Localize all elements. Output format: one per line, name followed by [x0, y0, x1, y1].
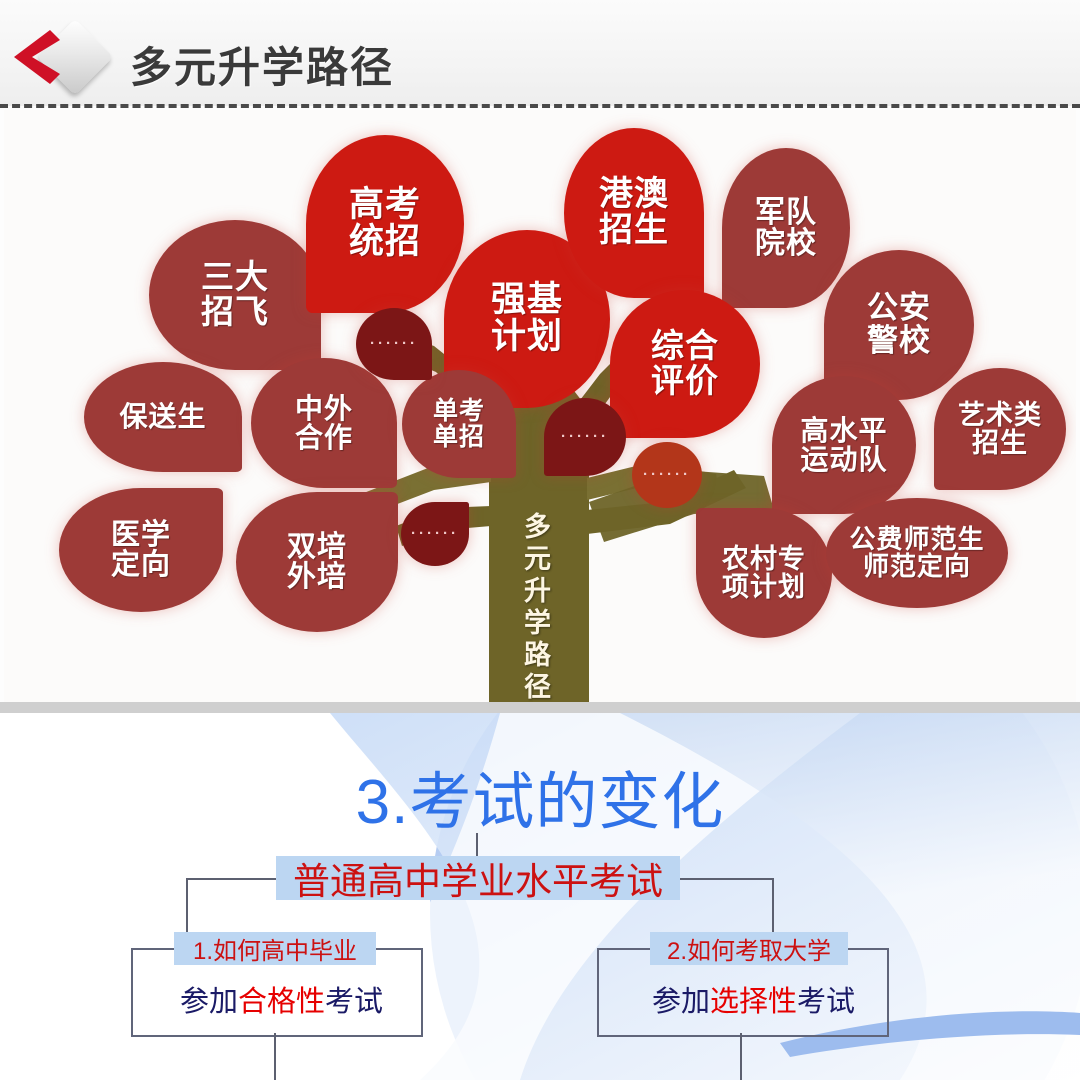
chevron-left-icon	[10, 28, 66, 86]
leaf-label: 农村专 项计划	[722, 545, 806, 602]
branch-2-text-highlight: 选择性	[710, 986, 797, 1018]
connector-node2-bottom	[740, 1033, 742, 1080]
leaf-yixue-dingxiang[interactable]: 医学 定向	[59, 488, 223, 612]
leaf-label: 公费师范生 师范定向	[849, 526, 984, 581]
leaf-label: 高水平 运动队	[800, 416, 887, 475]
leaf-gongfei-shifansheng[interactable]: 公费师范生 师范定向	[826, 498, 1008, 608]
branch-1-text-suffix: 考试	[325, 986, 383, 1018]
leaf-label: 单考 单招	[433, 398, 485, 451]
leaf-zhongwai-hezuo[interactable]: 中外 合作	[251, 358, 397, 488]
leaf-label: 保送生	[119, 402, 206, 431]
leaf-sanda-zhaofei[interactable]: 三大 招飞	[149, 220, 321, 370]
leaf-shuangpei-waipei[interactable]: 双培 外培	[236, 492, 398, 632]
ellipsis-label: ······	[643, 467, 691, 483]
leaf-gaoshuiping-yundongdui[interactable]: 高水平 运动队	[772, 376, 916, 514]
leaf-label: 军队 院校	[755, 197, 817, 260]
ellipsis-label: ······	[370, 336, 418, 352]
leaf-label: 艺术类 招生	[958, 401, 1042, 458]
branch-2-title[interactable]: 2.如何考取大学	[650, 932, 848, 965]
branch-1-text-prefix: 参加	[180, 986, 238, 1018]
leaf-ellipsis-2[interactable]: ······	[544, 398, 626, 476]
leaf-label: 公安 警校	[867, 292, 931, 357]
leaf-label: 医学 定向	[111, 520, 171, 581]
leaf-label: 港澳 招生	[599, 177, 669, 248]
brand-logo	[10, 22, 114, 94]
leaf-label: 综合 评价	[651, 329, 719, 398]
section-title: 3.考试的变化	[0, 751, 1080, 841]
leaf-danka-danzhao[interactable]: 单考 单招	[402, 370, 516, 478]
leaf-ellipsis-1[interactable]: ······	[356, 308, 432, 380]
leaf-ellipsis-3[interactable]: ······	[632, 442, 702, 508]
leaf-label: 高考 统招	[349, 187, 421, 261]
ellipsis-label: ······	[411, 526, 459, 542]
leaf-baosongsheng[interactable]: 保送生	[84, 362, 242, 472]
root-node-label[interactable]: 普通高中学业水平考试	[276, 856, 680, 900]
branch-1-title[interactable]: 1.如何高中毕业	[174, 932, 376, 965]
slide-exam-changes: 3.考试的变化 普通高中学业水平考试 1.如何高中毕业 2.如何考取大学 参加合…	[0, 713, 1080, 1080]
leaf-gangao-zhaosheng[interactable]: 港澳 招生	[564, 128, 704, 298]
branch-2-text-suffix: 考试	[797, 986, 855, 1018]
connector-node1-bottom	[274, 1033, 276, 1080]
branch-2-text: 参加选择性考试	[652, 978, 855, 1020]
ellipsis-label: ······	[561, 429, 609, 445]
branch-2-text-prefix: 参加	[652, 986, 710, 1018]
branch-1-text-highlight: 合格性	[238, 986, 325, 1018]
leaf-label: 三大 招飞	[201, 260, 269, 329]
leaf-label: 强基 计划	[491, 282, 563, 356]
leaf-zonghe-pingjia[interactable]: 综合 评价	[610, 290, 760, 438]
leaf-nongcun-zhuanxiang[interactable]: 农村专 项计划	[696, 508, 832, 638]
slide-diverse-pathways: 多元升学路径 三大 招飞 高考 统招	[0, 0, 1080, 713]
branch-1-text: 参加合格性考试	[180, 978, 383, 1020]
connector-root-left-h	[186, 878, 290, 880]
page-title: 多元升学路径	[130, 34, 394, 95]
trunk-vertical-label: 多元升学路径	[516, 512, 555, 704]
leaf-gaokao-tongzhao[interactable]: 高考 统招	[306, 135, 464, 313]
connector-root-right-h	[668, 878, 774, 880]
leaf-label: 中外 合作	[295, 394, 353, 453]
leaf-label: 双培 外培	[287, 532, 347, 593]
leaf-ellipsis-4[interactable]: ······	[401, 502, 469, 566]
leaf-yishulei-zhaosheng[interactable]: 艺术类 招生	[934, 368, 1066, 490]
leaf-jundui-yuanxiao[interactable]: 军队 院校	[722, 148, 850, 308]
dashed-divider	[0, 104, 1080, 108]
